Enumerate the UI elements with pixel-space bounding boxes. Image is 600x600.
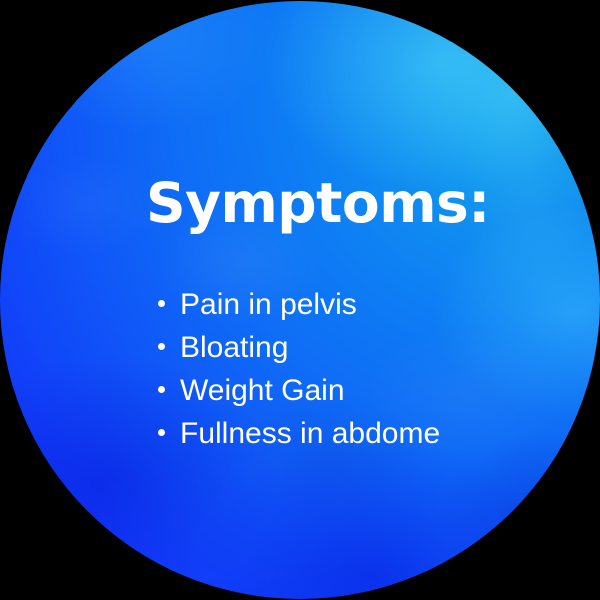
symptoms-list: Pain in pelvis Bloating Weight Gain Full… xyxy=(158,283,440,455)
list-item: Fullness in abdome xyxy=(158,412,440,455)
badge-content: Symptoms: Pain in pelvis Bloating Weight… xyxy=(0,0,600,600)
bullet-dot-icon xyxy=(158,429,165,436)
symptom-label: Pain in pelvis xyxy=(180,283,357,326)
bullet-dot-icon xyxy=(158,343,165,350)
symptom-label: Bloating xyxy=(180,326,288,369)
list-item: Bloating xyxy=(158,326,440,369)
list-item: Pain in pelvis xyxy=(158,283,440,326)
page-title: Symptoms: xyxy=(146,170,490,236)
symptom-label: Weight Gain xyxy=(180,369,345,412)
infographic-canvas: Symptoms: Pain in pelvis Bloating Weight… xyxy=(0,0,600,600)
bullet-dot-icon xyxy=(158,300,165,307)
list-item: Weight Gain xyxy=(158,369,440,412)
symptom-label: Fullness in abdome xyxy=(180,412,440,455)
bullet-dot-icon xyxy=(158,386,165,393)
